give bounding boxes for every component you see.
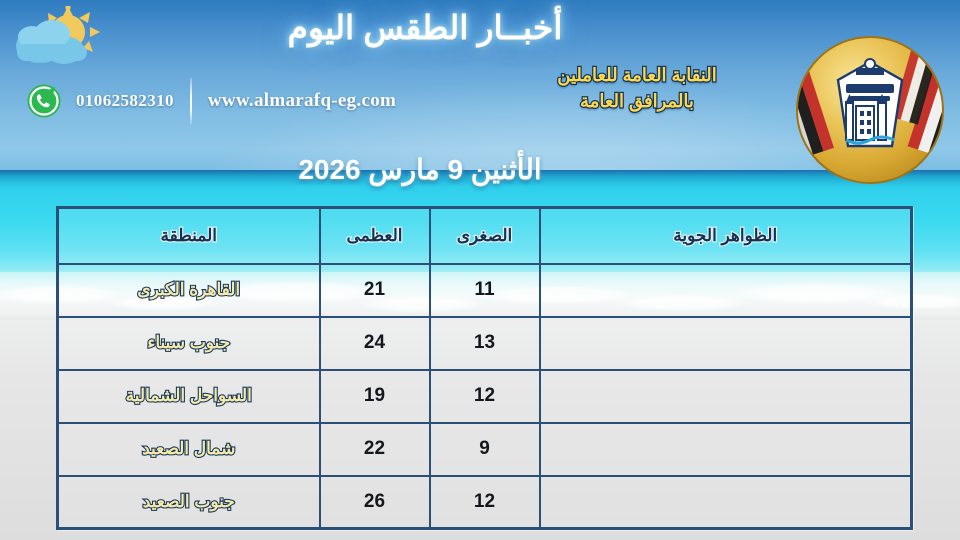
cell-min: 12 <box>430 476 540 529</box>
cell-phenomena <box>540 423 912 476</box>
cell-max: 19 <box>320 370 430 423</box>
column-header-phenomena: الظواهر الجوية <box>540 208 912 264</box>
cell-min: 9 <box>430 423 540 476</box>
column-header-max: العظمى <box>320 208 430 264</box>
cell-min: 11 <box>430 264 540 317</box>
syndicate-name: النقابة العامة للعاملين بالمرافق العامة <box>472 62 802 114</box>
cell-region: جنوب سيناء <box>58 317 320 370</box>
divider <box>190 78 192 124</box>
column-header-region: المنطقة <box>58 208 320 264</box>
table-row: 9 22 شمال الصعيد <box>58 423 912 476</box>
cell-phenomena <box>540 264 912 317</box>
phone-number[interactable]: 01062582310 <box>76 91 174 111</box>
cell-region: شمال الصعيد <box>58 423 320 476</box>
whatsapp-icon[interactable] <box>26 83 62 119</box>
website-url[interactable]: www.almarafq-eg.com <box>208 90 396 112</box>
cell-phenomena <box>540 370 912 423</box>
table-row: 12 19 السواحل الشمالية <box>58 370 912 423</box>
cell-min: 13 <box>430 317 540 370</box>
weather-news-card: أخبــار الطقس اليوم 01062582310 www.alma… <box>0 0 960 540</box>
cell-max: 24 <box>320 317 430 370</box>
cell-region: جنوب الصعيد <box>58 476 320 529</box>
cell-max: 21 <box>320 264 430 317</box>
cell-max: 22 <box>320 423 430 476</box>
column-header-min: الصغرى <box>430 208 540 264</box>
table-row: 13 24 جنوب سيناء <box>58 317 912 370</box>
cell-max: 26 <box>320 476 430 529</box>
forecast-date: الأثنين 9 مارس 2026 <box>0 153 960 186</box>
syndicate-line-1: النقابة العامة للعاملين <box>557 65 716 85</box>
cell-phenomena <box>540 317 912 370</box>
syndicate-line-2: بالمرافق العامة <box>472 88 802 114</box>
weather-forecast-table: الظواهر الجوية الصغرى العظمى المنطقة 11 … <box>56 206 913 530</box>
cell-phenomena <box>540 476 912 529</box>
table-row: 12 26 جنوب الصعيد <box>58 476 912 529</box>
cell-region: السواحل الشمالية <box>58 370 320 423</box>
table-header-row: الظواهر الجوية الصغرى العظمى المنطقة <box>58 208 912 264</box>
cell-min: 12 <box>430 370 540 423</box>
cell-region: القاهرة الكبرى <box>58 264 320 317</box>
contact-bar: 01062582310 www.almarafq-eg.com <box>26 78 396 124</box>
table-row: 11 21 القاهرة الكبرى <box>58 264 912 317</box>
